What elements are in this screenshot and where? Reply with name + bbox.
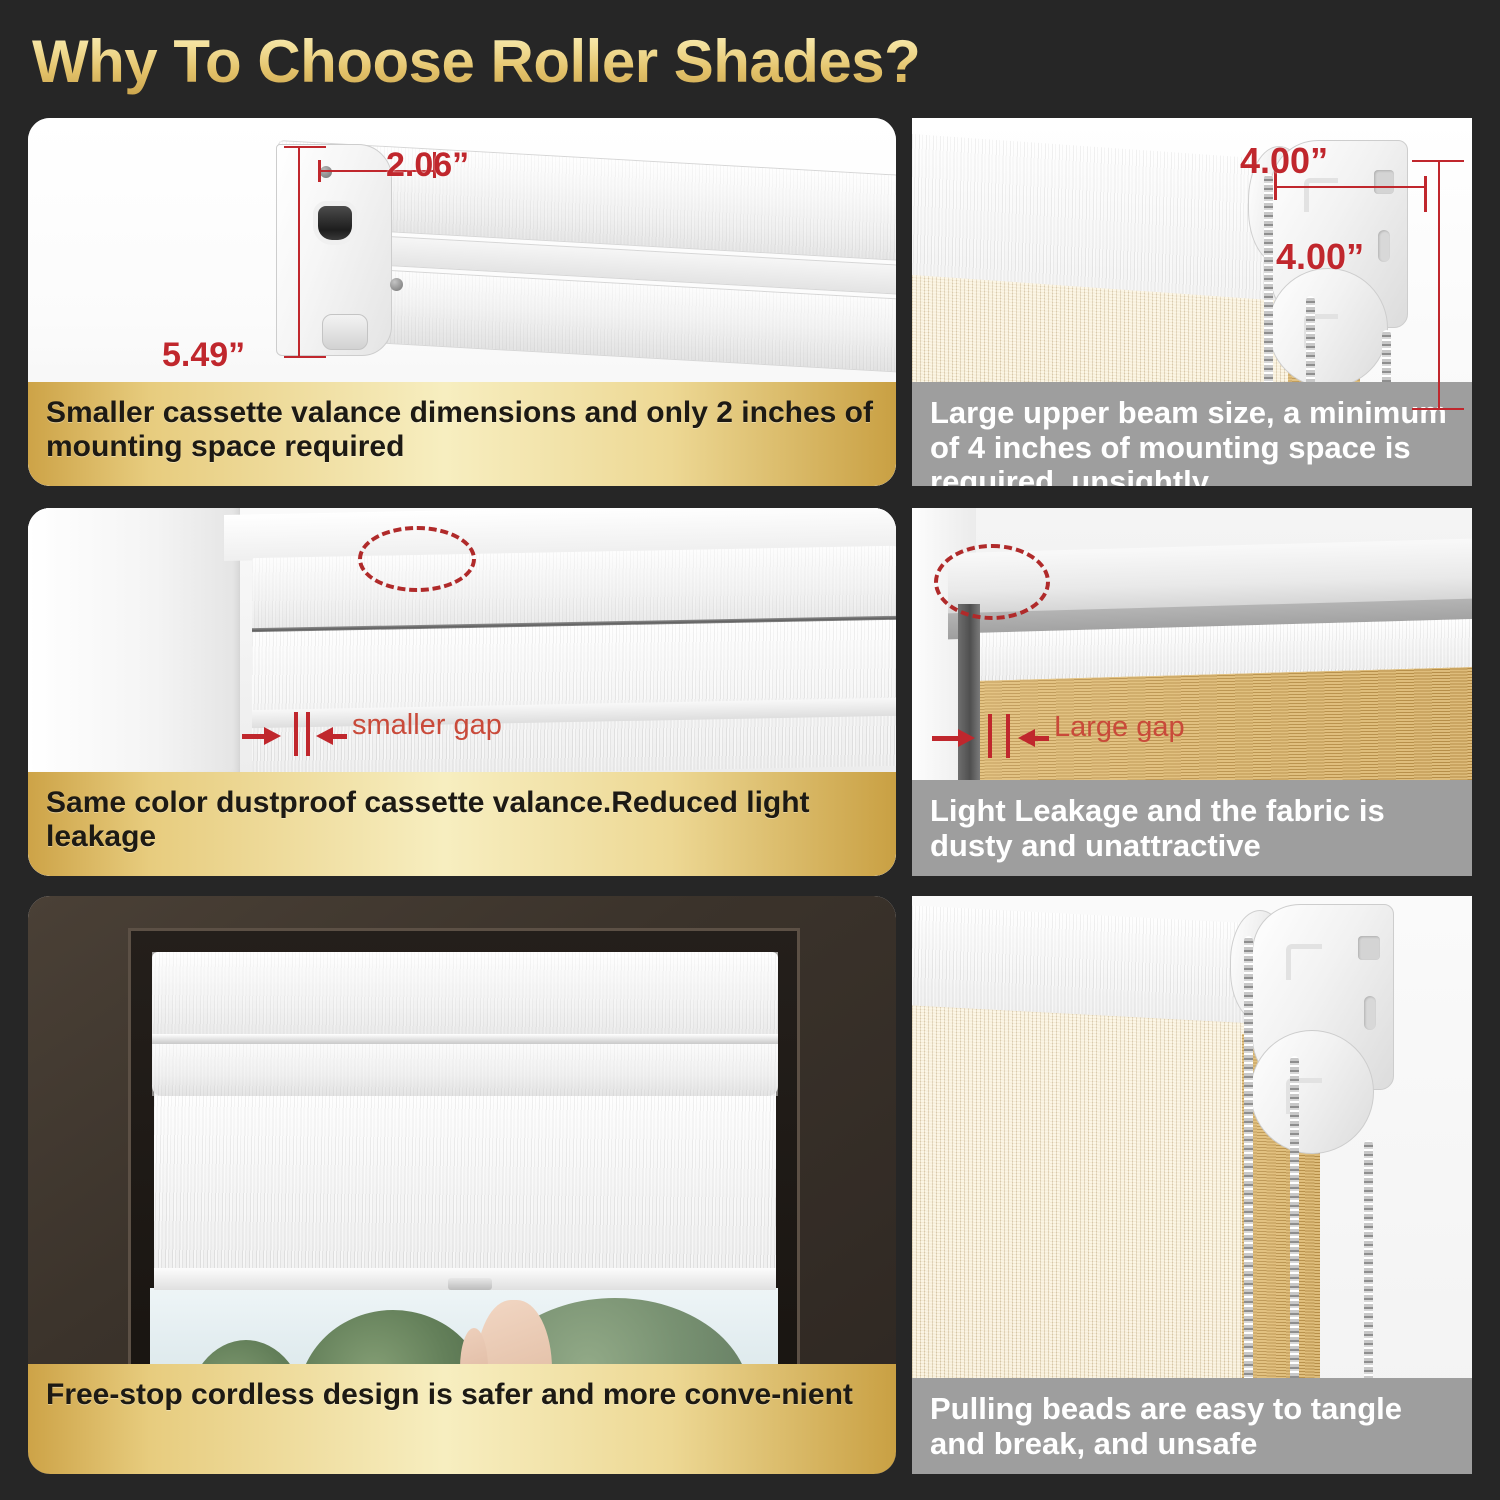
bracket-slot-lower: [1364, 996, 1376, 1030]
gap-arrow-left-head: [958, 729, 975, 747]
width-dimension-cap-left: [318, 160, 321, 182]
gap-arrow-right-head: [1018, 729, 1035, 747]
width-dimension-label: 2.06”: [386, 146, 469, 185]
panel-cordless-design: Free-stop cordless design is safer and m…: [28, 896, 896, 1474]
bracket-slot-upper: [1358, 936, 1380, 960]
end-cap-screw-lower: [390, 278, 403, 291]
gap-arrow-right-tail: [333, 734, 347, 739]
panel-3-caption: Same color dustproof cassette valance.Re…: [28, 772, 896, 876]
beam-height-cap-bottom: [1412, 408, 1464, 410]
bracket-emblem-upper: [1304, 178, 1338, 212]
bracket-slot-lower: [1378, 230, 1390, 262]
beam-width-label: 4.00”: [1240, 140, 1328, 182]
panel-light-leakage: Large gap Light Leakage and the fabric i…: [912, 508, 1472, 876]
gap-marker-right: [1006, 714, 1010, 758]
beam-width-cap-right: [1424, 176, 1427, 212]
bracket-emblem-upper: [1286, 944, 1322, 980]
height-dimension-line: [298, 146, 300, 358]
light-gap-column: [958, 604, 980, 808]
gap-arrow-right-tail: [1035, 736, 1049, 741]
height-dimension-cap-top: [284, 146, 326, 148]
gap-marker-left: [988, 714, 992, 758]
gap-arrow-left-head: [264, 727, 281, 745]
panel-1-caption: Smaller cassette valance dimensions and …: [28, 382, 896, 486]
valance-lip: [152, 1034, 778, 1044]
bracket-slot-upper: [1374, 170, 1394, 194]
bottom-rail-grip: [448, 1278, 492, 1290]
large-gap-label: Large gap: [1054, 711, 1185, 744]
infographic-page: Why To Choose Roller Shades? 5.49”: [0, 0, 1500, 1500]
height-dimension-cap-bottom: [284, 356, 326, 358]
panel-smaller-cassette: 5.49” 2.06” Smaller cassette valance dim…: [28, 118, 896, 486]
end-cap-screw-upper: [320, 166, 332, 178]
panel-dustproof-valance: smaller gap Same color dustproof cassett…: [28, 508, 896, 876]
gap-arrow-left-tail: [932, 736, 960, 741]
panel-pulling-beads: Pulling beads are easy to tangle and bre…: [912, 896, 1472, 1474]
valance-lower-skirt: [152, 1042, 778, 1096]
gap-arrow-right-head: [316, 727, 333, 745]
end-cap-roller-slot: [318, 206, 352, 240]
gap-highlight-ellipse: [934, 544, 1050, 620]
gap-arrow-left-tail: [242, 734, 266, 739]
beam-width-dimension-line: [1274, 186, 1426, 188]
window-frame-left-jamb: [28, 508, 240, 772]
gap-highlight-ellipse: [358, 526, 476, 592]
panel-2-caption: Large upper beam size, a minimum of 4 in…: [912, 382, 1472, 486]
panel-6-caption: Pulling beads are easy to tangle and bre…: [912, 1378, 1472, 1474]
end-cap-bottom-clip: [322, 314, 368, 350]
cassette-valance: [152, 952, 778, 1036]
panel-5-caption: Free-stop cordless design is safer and m…: [28, 1364, 896, 1474]
height-dimension-label: 5.49”: [162, 336, 245, 375]
shade-fabric: [154, 1092, 776, 1288]
beam-height-label: 4.00”: [1276, 236, 1364, 278]
smaller-gap-label: smaller gap: [352, 709, 502, 742]
panel-4-caption: Light Leakage and the fabric is dusty an…: [912, 780, 1472, 876]
page-title: Why To Choose Roller Shades?: [32, 26, 1132, 98]
gap-marker-left: [294, 712, 298, 756]
beam-height-dimension-line: [1438, 160, 1440, 410]
panel-large-upper-beam: 4.00” 4.00” Large upper beam size, a min…: [912, 118, 1472, 486]
gap-marker-right: [306, 712, 310, 756]
beam-height-cap-top: [1412, 160, 1464, 162]
